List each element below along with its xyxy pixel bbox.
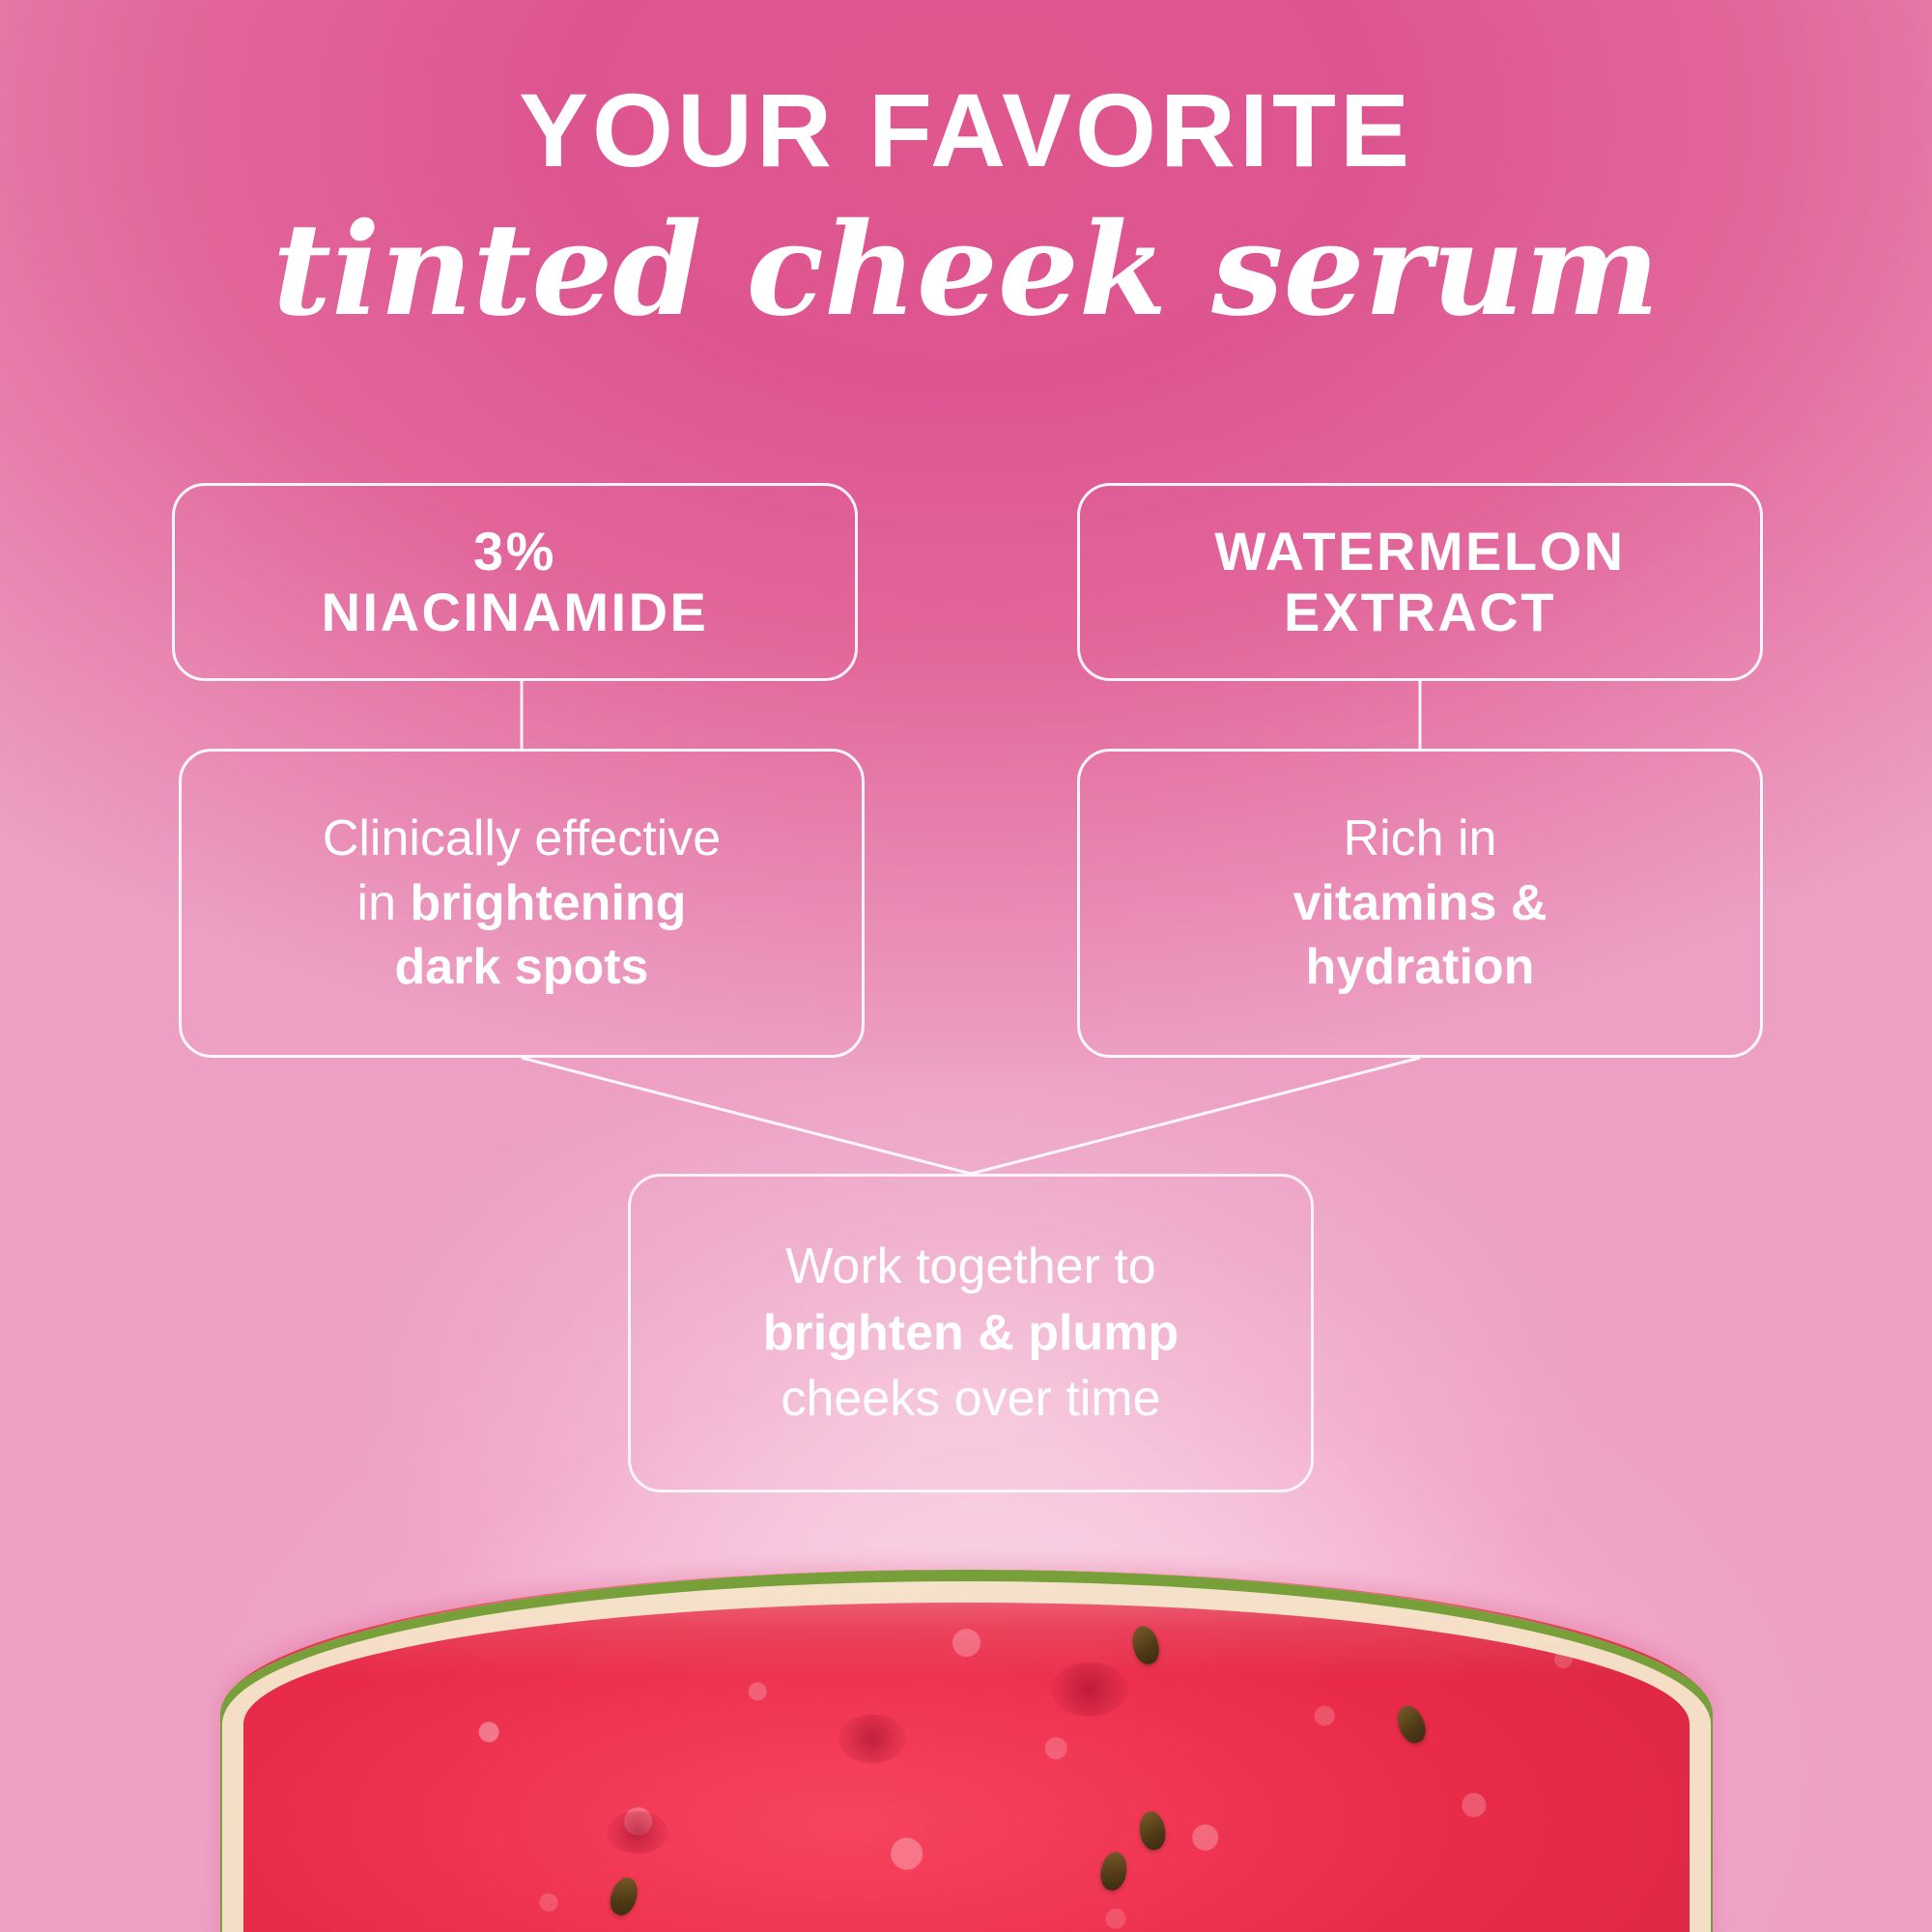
headline-line-1: YOUR FAVORITE [0, 75, 1932, 185]
node-watermelon-line-1: WATERMELON [1214, 522, 1625, 582]
benefit2-line-1: Rich in [1293, 807, 1548, 871]
benefit2-line-3: hydration [1293, 935, 1548, 1000]
headline-block: YOUR FAVORITE tinted cheek serum [0, 75, 1932, 341]
node-niacinamide: 3% NIACINAMIDE [172, 483, 858, 681]
promo-graphic: YOUR FAVORITE tinted cheek serum 3% NIAC… [0, 0, 1932, 1932]
benefit2-line-2: vitamins & [1293, 871, 1548, 936]
combined-line-2-bold: brighten & plump [763, 1305, 1179, 1361]
combined-line-1: Work together to [763, 1234, 1179, 1300]
node-benefit-vitamins-hydration: Rich in vitamins & hydration [1077, 749, 1763, 1058]
watermelon-dimple [838, 1715, 906, 1763]
watermelon-top-highlight [220, 1570, 1713, 1676]
edge-benefit2-to-combined [971, 1058, 1420, 1174]
headline-line-2: tinted cheek serum [0, 200, 1932, 340]
node-watermelon-extract: WATERMELON EXTRACT [1077, 483, 1763, 681]
ingredient-benefit-diagram: 3% NIACINAMIDE WATERMELON EXTRACT Clinic… [0, 483, 1932, 1526]
node-combined-result: Work together to brighten & plump cheeks… [628, 1174, 1314, 1492]
combined-line-2: brighten & plump [763, 1300, 1179, 1367]
watermelon-dimple [1051, 1662, 1128, 1717]
benefit2-line-3-bold: hydration [1306, 939, 1535, 995]
benefit1-line-2-bold: brightening [410, 875, 686, 931]
watermelon-dimple [607, 1811, 668, 1854]
node-niacinamide-line-1: 3% [322, 522, 709, 582]
benefit2-line-2-bold: vitamins & [1293, 875, 1548, 931]
watermelon-slice-image [220, 1570, 1713, 1932]
node-watermelon-line-2: EXTRACT [1214, 582, 1625, 643]
benefit1-line-3: dark spots [323, 935, 721, 1000]
node-benefit-brightening: Clinically effective in brightening dark… [179, 749, 865, 1058]
combined-line-3: cheeks over time [763, 1366, 1179, 1433]
benefit1-line-2-prefix: in [357, 875, 411, 931]
edge-benefit1-to-combined [522, 1058, 971, 1174]
benefit1-line-1: Clinically effective [323, 807, 721, 871]
benefit1-line-2: in brightening [323, 871, 721, 936]
benefit1-line-3-bold: dark spots [395, 939, 649, 995]
node-niacinamide-line-2: NIACINAMIDE [322, 582, 709, 643]
